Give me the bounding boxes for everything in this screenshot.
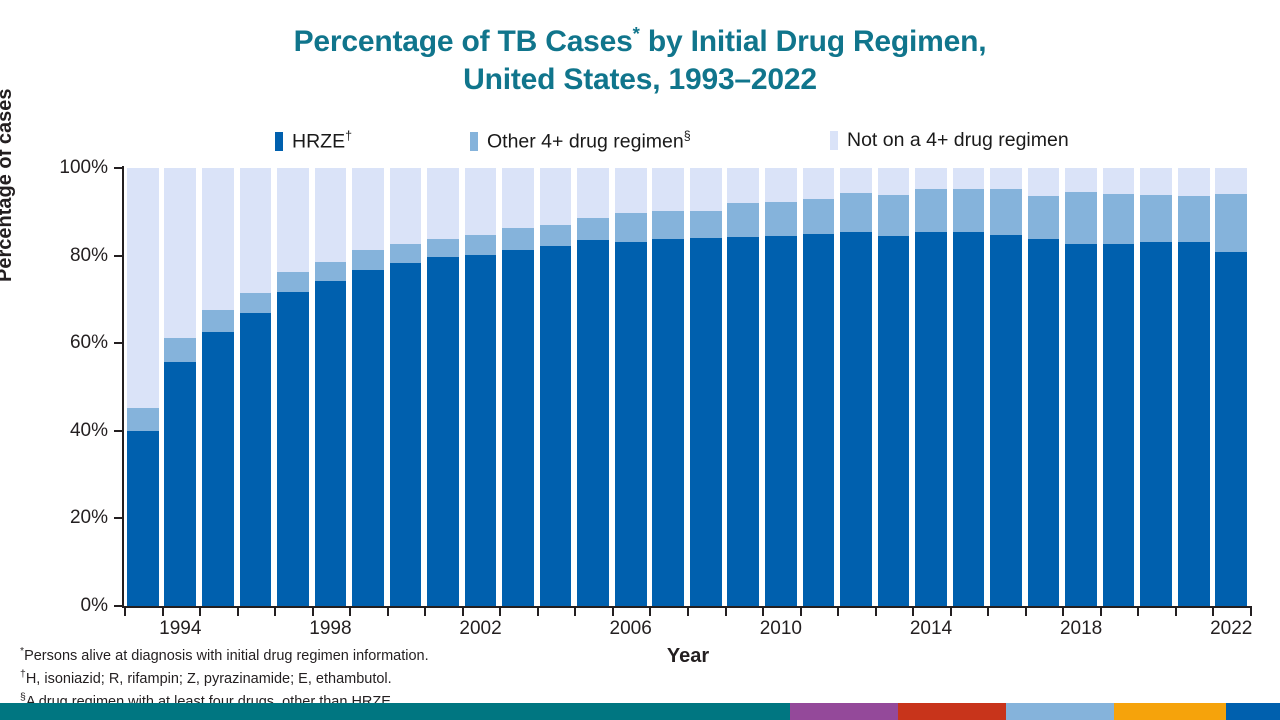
bar-segment [164,168,196,338]
bar-segment [240,293,272,313]
color-strip-block-4 [1006,703,1114,720]
x-tick-mark [462,607,464,616]
bar-segment [427,168,459,239]
title-line-1-suffix: by Initial Drug Regimen, [640,25,987,58]
x-tick-mark [612,607,614,616]
bar-segment [1065,192,1097,244]
bar-segment [727,203,759,238]
color-strip-block-5 [1114,703,1226,720]
bar-segment [1215,252,1247,606]
title-line-2: United States, 1993–2022 [0,61,1280,99]
bar-column[interactable] [277,168,309,606]
bar-column[interactable] [765,168,797,606]
bar-column[interactable] [803,168,835,606]
bar-segment [315,262,347,281]
x-tick-label: 2002 [459,618,501,640]
bar-segment [465,168,497,235]
legend-sup-hrze: † [345,129,352,143]
bar-column[interactable] [1140,168,1172,606]
legend-swatch-other-4-plus [470,132,478,151]
bar-segment [127,408,159,431]
bar-segment [803,199,835,234]
bar-segment [615,242,647,606]
bar-column[interactable] [1178,168,1210,606]
bar-segment [953,232,985,606]
bar-segment [1028,168,1060,196]
bar-segment [465,235,497,255]
bar-segment [315,281,347,606]
bar-column[interactable] [1215,168,1247,606]
bar-segment [990,168,1022,189]
y-tick-mark [114,255,123,257]
x-tick-mark [687,607,689,616]
title-line-1: Percentage of TB Cases* by Initial Drug … [0,22,1280,61]
bar-segment [765,168,797,202]
bottom-color-strip [0,703,1280,720]
bar-segment [652,211,684,239]
bar-column[interactable] [727,168,759,606]
legend-label-hrze: HRZE† [292,129,352,154]
bar-segment [277,292,309,606]
legend-sup-other-4-plus: § [684,129,691,143]
bar-segment [878,168,910,195]
bar-column[interactable] [202,168,234,606]
x-tick-label: 2018 [1060,618,1102,640]
x-tick-mark [537,607,539,616]
bar-segment [652,239,684,606]
bar-segment [202,168,234,310]
bar-segment [727,168,759,203]
y-tick-label: 40% [70,420,108,442]
x-tick-label: 2014 [910,618,952,640]
x-tick-mark [162,607,164,616]
x-tick-mark [499,607,501,616]
bar-segment [540,168,572,225]
bar-segment [390,244,422,263]
x-tick-mark [725,607,727,616]
bar-segment [1065,244,1097,606]
x-tick-mark [1250,607,1252,616]
x-tick-mark [649,607,651,616]
y-tick-mark [114,517,123,519]
y-tick-label: 20% [70,507,108,529]
y-tick-mark [114,342,123,344]
color-strip-block-1 [0,703,790,720]
x-tick-mark [424,607,426,616]
color-strip-block-2 [790,703,898,720]
title-line-1-prefix: Percentage of TB Cases [294,25,633,58]
bar-segment [390,263,422,606]
x-tick-mark [1175,607,1177,616]
y-tick-label: 100% [59,157,108,179]
bar-segment [765,202,797,236]
bar-segment [1028,196,1060,240]
y-tick-label: 0% [81,595,108,617]
bar-segment [127,168,159,408]
bar-segment [577,240,609,606]
bar-segment [202,332,234,606]
bar-segment [878,195,910,236]
bar-segment [765,236,797,606]
bar-segment [1178,168,1210,196]
y-axis-title: Percentage of cases [0,89,17,282]
x-tick-mark [124,607,126,616]
bar-segment [803,234,835,606]
footnote-2: †H, isoniazid; R, rifampin; Z, pyrazinam… [20,667,429,690]
x-tick-mark [987,607,989,616]
bar-segment [315,168,347,262]
bar-segment [577,168,609,218]
bar-segment [915,168,947,189]
x-tick-mark [1212,607,1214,616]
x-tick-label: 2006 [610,618,652,640]
footnote-text: H, isoniazid; R, rifampin; Z, pyrazinami… [26,671,392,687]
bar-segment [953,168,985,189]
x-tick-label: 2010 [760,618,802,640]
bar-column[interactable] [240,168,272,606]
bar-column[interactable] [127,168,159,606]
bar-column[interactable] [953,168,985,606]
bar-segment [202,310,234,332]
color-strip-block-3 [898,703,1006,720]
bar-column[interactable] [990,168,1022,606]
bar-column[interactable] [465,168,497,606]
bar-segment [953,189,985,233]
bar-segment [502,168,534,228]
bar-segment [615,168,647,213]
legend-swatch-not-on-4-plus [830,131,838,150]
x-tick-mark [762,607,764,616]
x-tick-mark [875,607,877,616]
x-tick-mark [800,607,802,616]
footnote-1: *Persons alive at diagnosis with initial… [20,644,429,667]
x-tick-mark [1062,607,1064,616]
bar-column[interactable] [502,168,534,606]
x-tick-mark [349,607,351,616]
bar-column[interactable] [427,168,459,606]
y-tick-label: 60% [70,332,108,354]
bar-column[interactable] [390,168,422,606]
x-tick-mark [312,607,314,616]
bar-segment [915,189,947,232]
legend-label-not-on-4-plus: Not on a 4+ drug regimen [847,129,1069,152]
bar-segment [1178,196,1210,242]
bar-column[interactable] [615,168,647,606]
bar-segment [990,235,1022,606]
x-tick-mark [912,607,914,616]
x-tick-label: 2022 [1210,618,1252,640]
bar-segment [1215,194,1247,252]
x-tick-mark [574,607,576,616]
bar-segment [427,257,459,606]
bar-segment [540,246,572,606]
color-strip-block-6 [1226,703,1280,720]
bar-segment [390,168,422,244]
bar-column[interactable] [164,168,196,606]
bar-segment [690,168,722,211]
bar-segment [427,239,459,257]
bar-segment [1103,168,1135,194]
bar-segment [465,255,497,606]
x-tick-label: 1998 [309,618,351,640]
bar-column[interactable] [840,168,872,606]
bar-column[interactable] [878,168,910,606]
bar-segment [277,168,309,272]
bar-segment [1065,168,1097,192]
bar-column[interactable] [540,168,572,606]
bar-column[interactable] [1103,168,1135,606]
bar-segment [727,237,759,606]
bar-segment [690,238,722,606]
bar-segment [615,213,647,242]
plot-area [124,168,1250,606]
bar-segment [352,168,384,250]
bar-segment [577,218,609,240]
bar-segment [1140,168,1172,195]
legend-item-not-on-4-plus[interactable]: Not on a 4+ drug regimen [830,129,1069,152]
bar-column[interactable] [352,168,384,606]
legend-label-other-4-plus: Other 4+ drug regimen§ [487,129,691,154]
bar-segment [690,211,722,238]
bar-segment [240,168,272,293]
y-tick-label: 80% [70,245,108,267]
bar-segment [878,236,910,606]
bar-segment [502,250,534,606]
y-tick-mark [114,430,123,432]
bar-segment [840,232,872,606]
footnote-text: Persons alive at diagnosis with initial … [24,648,429,664]
x-tick-label: 1994 [159,618,201,640]
bar-segment [840,193,872,232]
bar-segment [1215,168,1247,194]
legend-swatch-hrze [275,132,283,151]
bar-segment [240,313,272,606]
bar-segment [990,189,1022,234]
bar-column[interactable] [1028,168,1060,606]
bar-segment [352,270,384,606]
bar-segment [502,228,534,250]
x-tick-mark [199,607,201,616]
bar-segment [164,338,196,363]
x-tick-mark [837,607,839,616]
bar-column[interactable] [690,168,722,606]
chart-legend: HRZE†Other 4+ drug regimen§Not on a 4+ d… [265,129,1125,155]
x-tick-mark [950,607,952,616]
bar-segment [1028,239,1060,606]
x-tick-mark [1100,607,1102,616]
bar-segment [652,168,684,211]
bar-segment [1140,195,1172,242]
x-tick-mark [274,607,276,616]
legend-item-other-4-plus[interactable]: Other 4+ drug regimen§ [470,129,691,154]
bar-segment [1140,242,1172,606]
bar-segment [840,168,872,193]
bar-segment [352,250,384,270]
bar-column[interactable] [1065,168,1097,606]
bar-segment [1103,244,1135,606]
x-tick-mark [237,607,239,616]
bar-column[interactable] [315,168,347,606]
x-tick-mark [1137,607,1139,616]
bar-segment [277,272,309,291]
bar-segment [803,168,835,199]
bar-segment [127,431,159,606]
bar-column[interactable] [652,168,684,606]
bar-segment [1103,194,1135,244]
bar-segment [164,362,196,606]
page-title: Percentage of TB Cases* by Initial Drug … [0,22,1280,100]
x-tick-mark [387,607,389,616]
bar-column[interactable] [915,168,947,606]
bar-segment [915,232,947,606]
title-asterisk: * [633,23,640,44]
bar-column[interactable] [577,168,609,606]
bar-segment [540,225,572,246]
legend-item-hrze[interactable]: HRZE† [275,129,352,154]
x-tick-mark [1025,607,1027,616]
y-tick-mark [114,605,123,607]
y-tick-mark [114,167,123,169]
bar-segment [1178,242,1210,606]
